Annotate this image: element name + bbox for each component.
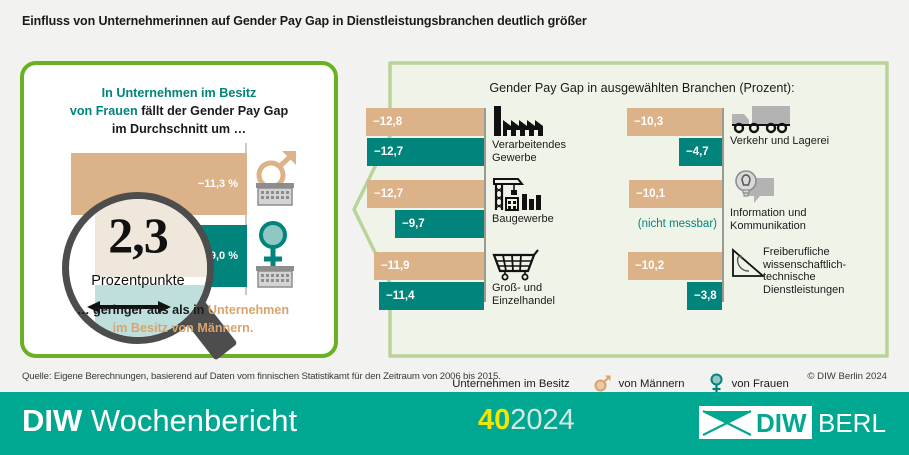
category-freiberufliche-dienstleistungen: Freiberufliche wissenschaftlich-technisc… bbox=[730, 246, 858, 296]
bar-label: −11,9 bbox=[381, 260, 409, 272]
source-note: Quelle: Eigene Berechnungen, basierend a… bbox=[22, 371, 501, 382]
page-title: Einfluss von Unternehmerinnen auf Gender… bbox=[22, 14, 587, 28]
category-label: Information und Kommunikation bbox=[730, 207, 858, 232]
bar-label: −12,7 bbox=[374, 146, 403, 158]
bar-male-baugewerbe: −12,7 bbox=[367, 180, 484, 208]
footnote-tan-2: im Besitz von Männern. bbox=[113, 321, 254, 335]
category-label: Freiberufliche wissenschaftlich-technisc… bbox=[763, 246, 858, 296]
left-bar-male-label: −11,3 % bbox=[198, 178, 238, 190]
category-label: Groß- und Einzelhandel bbox=[492, 282, 620, 307]
venus-symbol-icon bbox=[250, 221, 308, 296]
legend-male-label: von Männern bbox=[619, 378, 685, 390]
lightbulb-speech-icon bbox=[730, 170, 778, 206]
category-label: Baugewerbe bbox=[492, 213, 620, 226]
bar-male-freiberufliche-dienstleistungen: −10,2 bbox=[628, 252, 722, 280]
bar-label: −10,2 bbox=[635, 260, 664, 272]
left-panel-footnote: … geringer aus als in Unternehmen im Bes… bbox=[42, 301, 324, 337]
footer-brand-wochenbericht: Wochenbericht bbox=[82, 403, 297, 438]
branch-bar-chart: −12,8 −12,7 bbox=[352, 108, 889, 313]
right-chart-panel: Gender Pay Gap in ausgewählten Branchen … bbox=[352, 61, 889, 358]
footer-issue-number: 40 bbox=[478, 404, 510, 436]
left-bar-female-label: −9,0 % bbox=[203, 250, 238, 262]
category-verarbeitendes-gewerbe: Verarbeitendes Gewerbe bbox=[492, 106, 620, 164]
bar-male-verkehr-und-lagerei: −10,3 bbox=[627, 108, 722, 136]
bar-label: −12,7 bbox=[374, 188, 403, 200]
venus-symbol-icon bbox=[708, 373, 725, 394]
bar-female-baugewerbe: −9,7 bbox=[395, 210, 484, 238]
bar-label: −11,4 bbox=[386, 290, 414, 302]
chart-axis-left bbox=[484, 108, 486, 302]
company-building-icon bbox=[256, 183, 294, 205]
bar-female-gross-und-einzelhandel: −11,4 bbox=[379, 282, 484, 310]
category-label: Verarbeitendes Gewerbe bbox=[492, 139, 620, 164]
category-label: Verkehr und Lagerei bbox=[730, 135, 858, 148]
bar-label: −10,3 bbox=[634, 116, 663, 128]
footnote-prefix: … geringer aus als in bbox=[77, 303, 208, 317]
logo-diw-text: DIW bbox=[756, 408, 807, 438]
footer-issue: 402024 bbox=[478, 404, 575, 437]
bar-label: −12,8 bbox=[373, 116, 402, 128]
footnote-tan-1: Unternehmen bbox=[208, 303, 289, 317]
company-building-icon bbox=[256, 266, 294, 287]
mars-symbol-icon bbox=[250, 149, 308, 216]
heading-line-2-teal: von Frauen bbox=[70, 104, 138, 118]
bar-female-information-und-kommunikation-not-measurable: (nicht messbar) bbox=[622, 210, 722, 238]
footer-brand-diw: DIW bbox=[22, 403, 82, 438]
footer-bar: DIW Wochenbericht 402024 DIW BERLIN bbox=[0, 392, 909, 455]
category-verkehr-und-lagerei: Verkehr und Lagerei bbox=[730, 104, 858, 148]
chart-title: Gender Pay Gap in ausgewählten Branchen … bbox=[412, 81, 872, 95]
truck-icon bbox=[730, 104, 792, 134]
bar-label: (nicht messbar) bbox=[638, 218, 717, 230]
left-panel-heading: In Unternehmen im Besitz von Frauen fäll… bbox=[24, 84, 334, 138]
bar-female-freiberufliche-dienstleistungen: −3,8 bbox=[687, 282, 722, 310]
category-gross-und-einzelhandel: Groß- und Einzelhandel bbox=[492, 249, 620, 307]
copyright-note: © DIW Berlin 2024 bbox=[807, 371, 887, 382]
bar-female-verkehr-und-lagerei: −4,7 bbox=[679, 138, 722, 166]
bar-male-information-und-kommunikation: −10,1 bbox=[629, 180, 722, 208]
heading-line-2-rest: fällt der Gender Pay Gap bbox=[138, 104, 288, 118]
diw-berlin-logo: DIW BERLIN bbox=[699, 406, 887, 439]
bar-label: −4,7 bbox=[686, 146, 709, 158]
shopping-cart-icon bbox=[492, 249, 542, 281]
left-bar-male: −11,3 % bbox=[71, 153, 247, 215]
bar-label: −10,1 bbox=[636, 188, 665, 200]
crane-icon bbox=[492, 178, 544, 212]
chart-column-right: −10,3 −4,7 bbox=[604, 108, 854, 313]
category-baugewerbe: Baugewerbe bbox=[492, 178, 620, 226]
bar-male-gross-und-einzelhandel: −11,9 bbox=[374, 252, 484, 280]
chart-axis-right bbox=[722, 108, 724, 302]
infographic-root: Einfluss von Unternehmerinnen auf Gender… bbox=[0, 0, 909, 455]
bar-label: −9,7 bbox=[402, 218, 425, 230]
footer-issue-year: 2024 bbox=[510, 404, 575, 436]
mars-symbol-icon bbox=[593, 374, 612, 393]
category-information-und-kommunikation: Information und Kommunikation bbox=[730, 170, 858, 232]
left-summary-panel: In Unternehmen im Besitz von Frauen fäll… bbox=[20, 61, 338, 358]
footer-brand: DIW Wochenbericht bbox=[22, 403, 297, 439]
heading-line-3: im Durchschnitt um … bbox=[112, 122, 246, 136]
factory-icon bbox=[492, 106, 552, 138]
bar-male-verarbeitendes-gewerbe: −12,8 bbox=[366, 108, 484, 136]
legend-female-label: von Frauen bbox=[732, 378, 789, 390]
bar-label: −3,8 bbox=[694, 290, 717, 302]
logo-berlin-text: BERLIN bbox=[818, 408, 887, 438]
left-panel-chart: −11,3 % −9,0 % bbox=[56, 143, 308, 295]
chart-column-left: −12,8 −12,7 bbox=[366, 108, 616, 313]
heading-line-1: In Unternehmen im Besitz bbox=[102, 86, 257, 100]
bar-female-verarbeitendes-gewerbe: −12,7 bbox=[367, 138, 484, 166]
left-bar-female: −9,0 % bbox=[107, 225, 247, 287]
